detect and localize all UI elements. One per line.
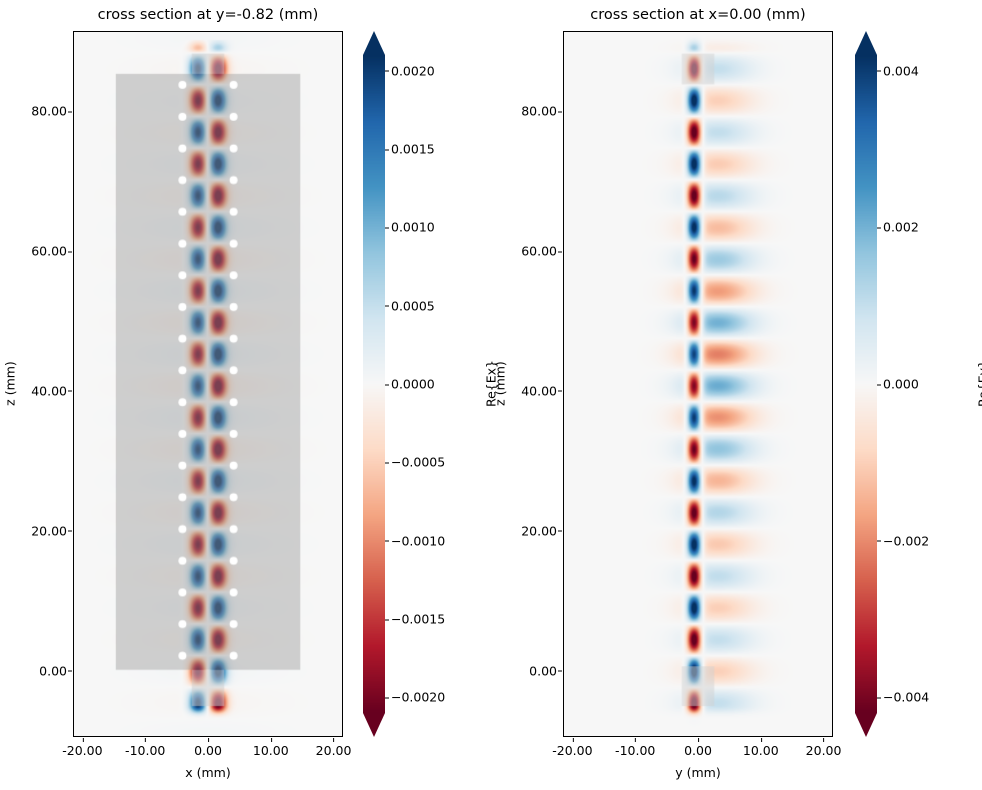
colorbar-tick-label: 0.0000: [391, 377, 435, 392]
colorbar-tick-label: −0.004: [883, 690, 929, 705]
colorbar-tick-label: 0.004: [883, 63, 919, 78]
plot-area-right[interactable]: [563, 31, 833, 737]
figure-canvas: cross section at y=-0.82 (mm) x (mm) z (…: [0, 0, 982, 790]
colorbar-tick-label: 0.0005: [391, 298, 435, 313]
x-tick-mark: [698, 738, 699, 742]
colorbar-tick-mark: [385, 541, 389, 542]
y-tick-label: 40.00: [499, 383, 557, 398]
x-tick-label: 20.00: [806, 743, 842, 758]
colorbar-tick-label: 0.000: [883, 377, 919, 392]
y-tick-mark: [68, 111, 72, 112]
y-tick-mark: [68, 251, 72, 252]
y-tick-label: 20.00: [9, 523, 67, 538]
x-tick-mark: [761, 738, 762, 742]
x-tick-mark: [208, 738, 209, 742]
colorbar-tick-mark: [385, 227, 389, 228]
colorbar-tick-mark: [877, 227, 881, 228]
x-tick-label: 0.00: [194, 743, 222, 758]
colorbar-tick-label: −0.0015: [391, 612, 445, 627]
x-tick-mark: [572, 738, 573, 742]
x-tick-label: 10.00: [253, 743, 289, 758]
x-axis-label-left: x (mm): [73, 765, 343, 780]
y-tick-mark: [68, 671, 72, 672]
panel-title-right: cross section at x=0.00 (mm): [563, 7, 833, 23]
y-tick-label: 80.00: [499, 104, 557, 119]
y-tick-mark: [68, 531, 72, 532]
x-tick-label: 10.00: [743, 743, 779, 758]
x-tick-label: -10.00: [125, 743, 165, 758]
colorbar-tick-mark: [385, 149, 389, 150]
colorbar-tick-mark: [877, 697, 881, 698]
colorbar-right-gradient: [855, 55, 877, 713]
colorbar-tick-label: −0.0010: [391, 533, 445, 548]
y-tick-mark: [558, 251, 562, 252]
y-tick-label: 0.00: [499, 663, 557, 678]
colorbar-tick-label: 0.0015: [391, 142, 435, 157]
panel-title-left: cross section at y=-0.82 (mm): [73, 7, 343, 23]
x-tick-label: -10.00: [615, 743, 655, 758]
colorbar-tick-mark: [385, 697, 389, 698]
x-tick-label: 20.00: [316, 743, 352, 758]
colorbar-tick-mark: [877, 541, 881, 542]
colorbar-right-extend-bottom: [855, 713, 877, 737]
plot-area-left[interactable]: [73, 31, 343, 737]
y-tick-label: 20.00: [499, 523, 557, 538]
colorbar-right-label: Re{Ey}: [976, 324, 982, 444]
colorbar-left[interactable]: [363, 31, 385, 737]
colorbar-right-extend-top: [855, 31, 877, 55]
y-tick-mark: [68, 391, 72, 392]
colorbar-tick-label: 0.0020: [391, 63, 435, 78]
y-tick-mark: [558, 111, 562, 112]
y-tick-label: 60.00: [499, 244, 557, 259]
x-tick-mark: [145, 738, 146, 742]
y-tick-mark: [558, 671, 562, 672]
colorbar-left-extend-bottom: [363, 713, 385, 737]
y-tick-mark: [558, 531, 562, 532]
x-tick-mark: [635, 738, 636, 742]
x-tick-mark: [271, 738, 272, 742]
colorbar-tick-mark: [385, 462, 389, 463]
colorbar-tick-mark: [877, 384, 881, 385]
colorbar-left-gradient: [363, 55, 385, 713]
x-axis-label-right: y (mm): [563, 765, 833, 780]
x-tick-label: -20.00: [552, 743, 592, 758]
colorbar-tick-label: −0.0020: [391, 690, 445, 705]
x-tick-mark: [82, 738, 83, 742]
colorbar-tick-mark: [385, 384, 389, 385]
colorbar-right[interactable]: [855, 31, 877, 737]
y-tick-mark: [558, 391, 562, 392]
y-tick-label: 80.00: [9, 104, 67, 119]
y-tick-label: 60.00: [9, 244, 67, 259]
colorbar-tick-mark: [385, 306, 389, 307]
x-tick-label: 0.00: [684, 743, 712, 758]
x-tick-label: -20.00: [62, 743, 102, 758]
colorbar-tick-mark: [385, 619, 389, 620]
heatmap-right: [564, 32, 832, 736]
colorbar-tick-mark: [877, 71, 881, 72]
y-tick-label: 0.00: [9, 663, 67, 678]
colorbar-tick-label: 0.0010: [391, 220, 435, 235]
colorbar-left-extend-top: [363, 31, 385, 55]
x-tick-mark: [824, 738, 825, 742]
colorbar-tick-label: −0.0005: [391, 455, 445, 470]
x-tick-mark: [334, 738, 335, 742]
colorbar-tick-label: 0.002: [883, 220, 919, 235]
heatmap-left: [74, 32, 342, 736]
colorbar-tick-mark: [385, 71, 389, 72]
colorbar-tick-label: −0.002: [883, 533, 929, 548]
y-tick-label: 40.00: [9, 383, 67, 398]
